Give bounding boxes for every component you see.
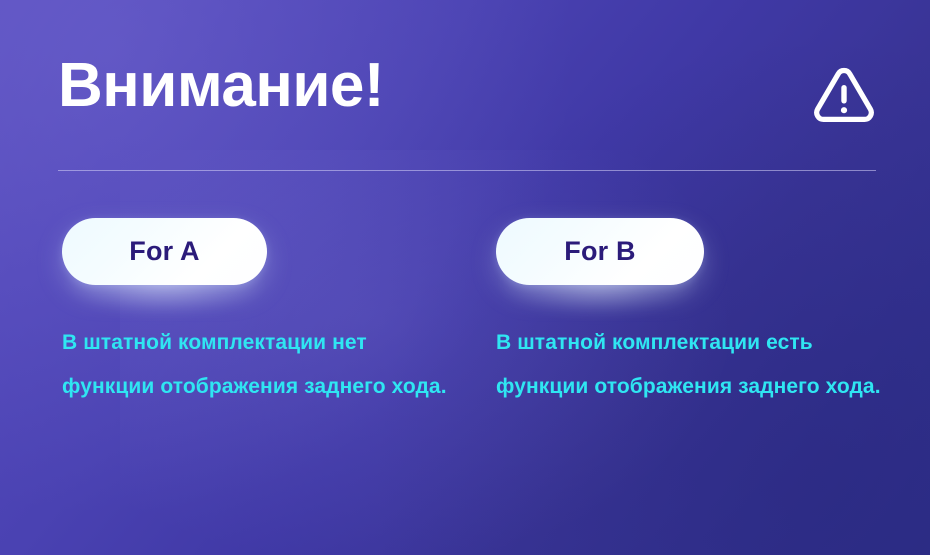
option-column-b: For B В штатной комплектации есть функци… <box>496 218 930 409</box>
option-a-description: В штатной комплектации нет функции отобр… <box>62 321 452 409</box>
page-title: Внимание! <box>58 55 384 117</box>
for-b-button[interactable]: For B <box>496 218 704 285</box>
for-a-button-wrap: For A <box>62 218 267 285</box>
option-b-description: В штатной комплектации есть функции отоб… <box>496 321 881 409</box>
for-a-button[interactable]: For A <box>62 218 267 285</box>
notice-screen: Внимание! For A В штатной комплектации н… <box>0 0 930 555</box>
for-b-button-label: For B <box>564 236 636 267</box>
for-a-button-label: For A <box>129 236 200 267</box>
options-container: For A В штатной комплектации нет функции… <box>0 218 930 409</box>
for-b-button-wrap: For B <box>496 218 704 285</box>
header-divider <box>58 170 876 171</box>
warning-triangle-icon <box>812 64 876 124</box>
option-column-a: For A В штатной комплектации нет функции… <box>62 218 496 409</box>
